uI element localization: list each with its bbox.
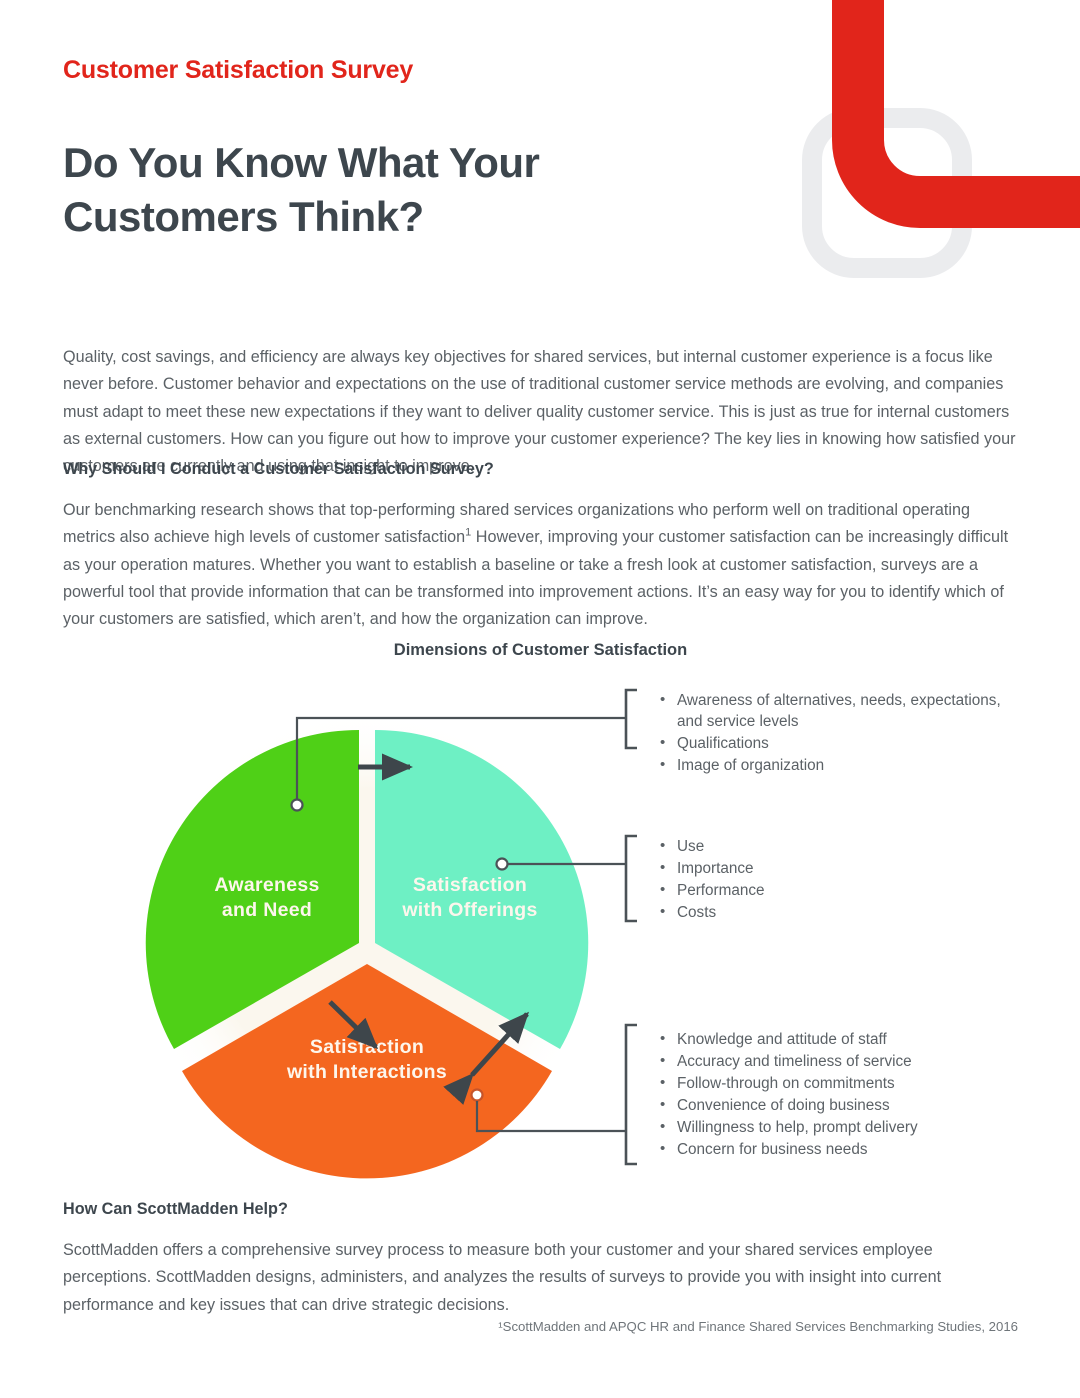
pie-label-offerings-line2: with Offerings	[401, 899, 537, 921]
list-item: Use	[658, 836, 1028, 857]
section-heading-help: How Can ScottMadden Help?	[63, 1200, 288, 1219]
list-item: Awareness of alternatives, needs, expect…	[658, 690, 1028, 733]
list-item: Convenience of doing business	[658, 1095, 1038, 1116]
list-item: Willingness to help, prompt delivery	[658, 1117, 1038, 1138]
section-body-help: ScottMadden offers a comprehensive surve…	[63, 1237, 1018, 1319]
pie-label-offerings-line1: Satisfaction	[413, 874, 527, 896]
callout-list-interactions: Knowledge and attitude of staff Accuracy…	[658, 1029, 1038, 1160]
callout-bracket-awareness	[626, 690, 637, 748]
diagram-title: Dimensions of Customer Satisfaction	[63, 641, 1018, 660]
list-item: Follow-through on commitments	[658, 1073, 1038, 1094]
callout-bracket-offerings	[626, 836, 637, 921]
leader-anchor-dot-awareness	[292, 800, 303, 811]
logo-ghost-square	[812, 118, 962, 268]
footnote-text: ¹ScottMadden and APQC HR and Finance Sha…	[63, 1319, 1018, 1334]
callout-list-awareness: Awareness of alternatives, needs, expect…	[658, 690, 1028, 777]
callout-list-offerings: Use Importance Performance Costs	[658, 836, 1028, 924]
list-item: Image of organization	[658, 755, 1028, 776]
logo-red-elbow	[858, 0, 1080, 202]
pie-label-awareness-line2: and Need	[222, 899, 312, 921]
eyebrow-title: Customer Satisfaction Survey	[63, 56, 413, 85]
leader-anchor-dot-offerings	[497, 859, 508, 870]
document-page: Customer Satisfaction Survey Do You Know…	[0, 0, 1080, 1398]
callout-bracket-interactions	[626, 1025, 637, 1164]
list-item: Performance	[658, 880, 1028, 901]
pie-label-interactions-line2: with Interactions	[286, 1061, 447, 1083]
list-item: Qualifications	[658, 733, 1028, 754]
section-heading-why: Why Should I Conduct a Customer Satisfac…	[63, 460, 494, 479]
list-item: Concern for business needs	[658, 1139, 1038, 1160]
page-title: Do You Know What Your Customers Think?	[63, 136, 703, 244]
leader-anchor-dot-interactions	[472, 1090, 483, 1101]
list-item: Costs	[658, 902, 1028, 923]
list-item: Accuracy and timeliness of service	[658, 1051, 1038, 1072]
pie-label-awareness-line1: Awareness	[214, 874, 319, 896]
section-body-why: Our benchmarking research shows that top…	[63, 497, 1018, 633]
list-item: Knowledge and attitude of staff	[658, 1029, 1038, 1050]
scottmadden-logo-icon	[790, 0, 1080, 290]
list-item: Importance	[658, 858, 1028, 879]
